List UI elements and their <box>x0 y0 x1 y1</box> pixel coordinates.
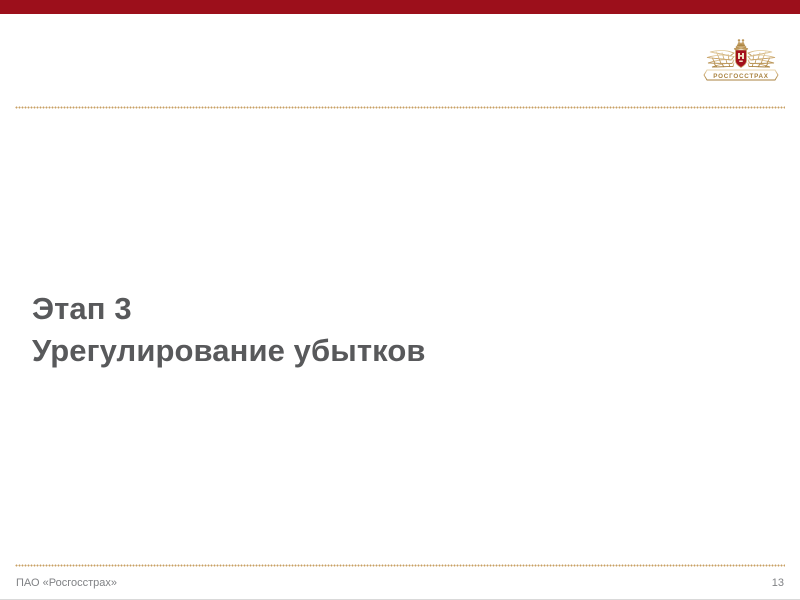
top-crimson-band <box>0 0 800 14</box>
slide: РОСГОССТРАХ Этап 3 Урегулирование убытко… <box>0 0 800 600</box>
title-line-2: Урегулирование убытков <box>32 330 732 372</box>
svg-text:РОСГОССТРАХ: РОСГОССТРАХ <box>713 73 769 80</box>
divider-top <box>15 106 785 109</box>
rosgosstrakh-logo: РОСГОССТРАХ <box>699 33 783 85</box>
title-line-1: Этап 3 <box>32 288 732 330</box>
footer-company: ПАО «Росгосстрах» <box>16 576 117 590</box>
footer-page-number: 13 <box>772 576 784 590</box>
divider-bottom <box>15 564 785 567</box>
page-title: Этап 3 Урегулирование убытков <box>32 288 732 372</box>
